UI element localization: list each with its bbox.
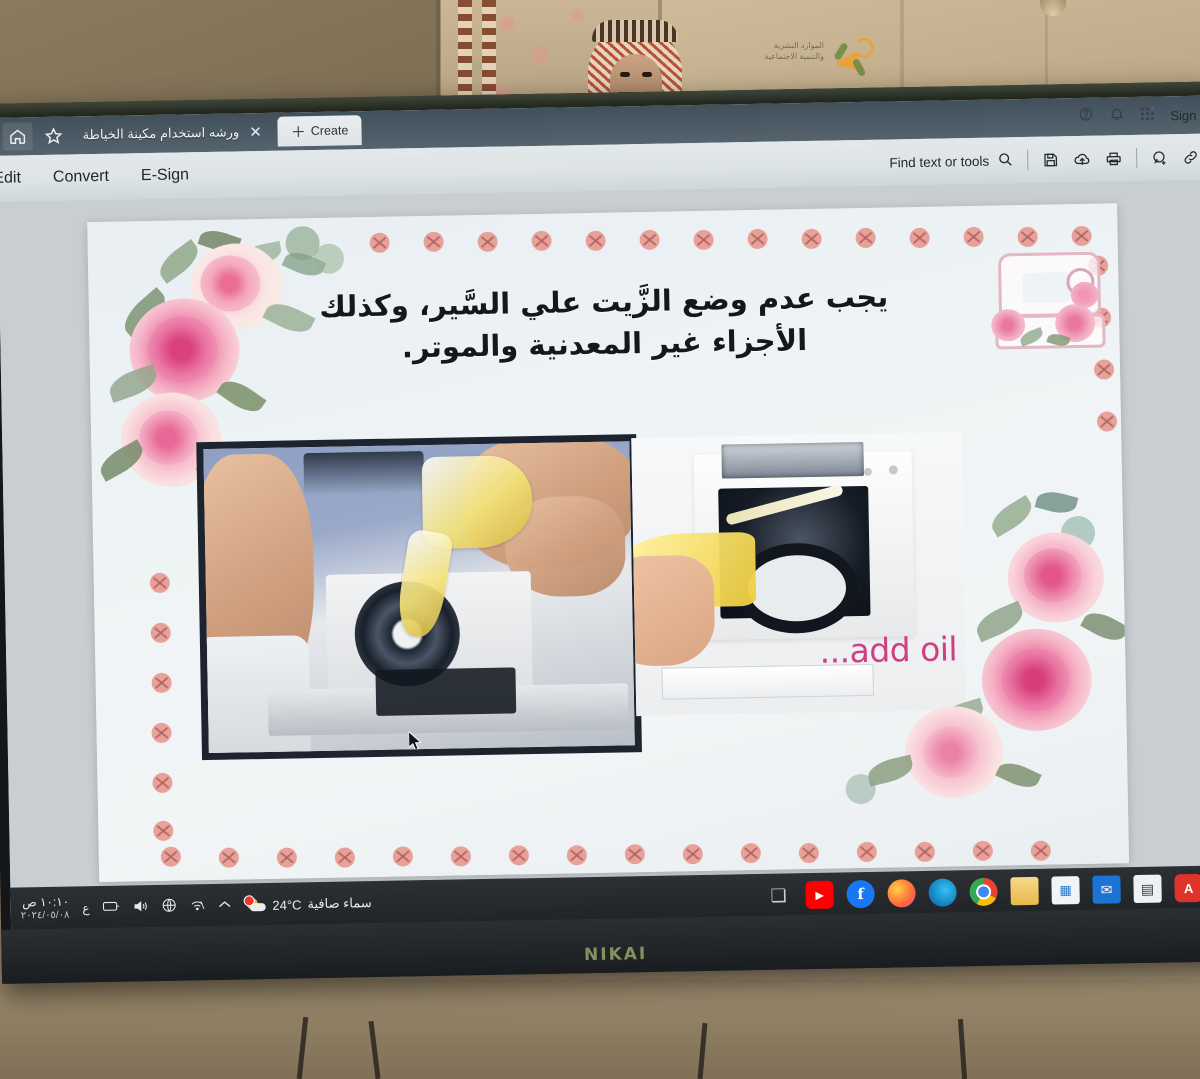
menu-item-convert[interactable]: Convert [53,168,109,187]
media-app-icon[interactable]: ❏ [764,881,793,910]
app-grid-icon[interactable] [1140,106,1154,125]
sign-in-link[interactable]: Sign [1170,107,1196,122]
firefox-icon[interactable] [887,879,916,908]
search-input[interactable]: Find text or tools [889,151,1013,172]
bell-icon[interactable] [1109,106,1124,126]
print-icon[interactable] [1105,150,1122,167]
folder-icon[interactable] [1010,877,1039,906]
clock-date: ٢٠٢٤/٠٥/٠٨ [21,909,70,923]
adobe-acrobat-icon[interactable]: A [1174,874,1200,903]
microsoft-store-icon[interactable]: ▦ [1051,876,1080,905]
floral-decoration-bottom-right [87,203,1117,222]
decorative-sewing-machine-icon [992,246,1106,352]
slide-border-right [87,203,1117,222]
youtube-icon[interactable]: ▶ [805,881,834,910]
add-oil-photo[interactable]: ...add oil [631,432,966,716]
file-explorer-icon[interactable]: ▤ [1133,875,1162,904]
slide-border-bottom [87,203,1117,222]
battery-icon[interactable] [102,900,119,916]
mail-icon[interactable]: ✉ [1092,875,1121,904]
help-icon[interactable] [1078,107,1093,127]
presentation-slide: يجب عدم وضع الزَّيت علي السَّير، وكذلك ا… [87,203,1129,882]
create-button-label: Create [311,123,349,138]
weather-widget[interactable]: سماء صافية 24°C [244,895,372,913]
google-chrome-icon[interactable] [969,878,998,907]
floral-decoration-top-left [87,203,1117,222]
link-icon[interactable] [1182,148,1199,165]
pdf-page-area[interactable]: يجب عدم وضع الزَّيت علي السَّير، وكذلك ا… [0,180,1200,932]
clock[interactable]: ١٠:١٠ ص ٢٠٢٤/٠٥/٠٨ [21,896,70,923]
menu-item-esign[interactable]: E-Sign [141,166,189,185]
slide-title: يجب عدم وضع الزَّيت علي السَّير، وكذلك ا… [278,275,929,371]
weather-temperature: 24°C [272,897,301,913]
create-button[interactable]: ＋ Create [278,115,362,147]
sun-cloud-icon [244,897,266,913]
weather-text: سماء صافية [307,895,371,912]
menu-item-edit[interactable]: Edit [0,169,21,188]
add-oil-caption: ...add oil [819,629,957,671]
monitor-brand-label: NIKAI [584,944,648,965]
oiling-sewing-machine-photo[interactable] [196,434,642,760]
facebook-icon[interactable]: f [846,880,875,909]
network-icon[interactable] [189,898,204,915]
show-hidden-icons[interactable] [217,899,231,913]
plus-icon: ＋ [291,121,306,142]
logo-line-1: الموارد البشرية [764,40,824,51]
computer-monitor: ورشه استخدام مكينة الخياطة ✕ ＋ Create [0,81,1200,983]
home-icon[interactable] [2,122,33,151]
taskbar-pinned-apps: ❏ ▶ f ▦ ✉ ▤ A [764,874,1200,910]
search-icon[interactable] [997,151,1013,170]
cloud-upload-icon[interactable] [1073,150,1091,168]
document-tab[interactable]: ورشه استخدام مكينة الخياطة ✕ [74,117,270,151]
add-comment-icon[interactable] [1151,149,1168,166]
slide-border-left [87,203,1117,222]
globe-icon[interactable] [161,898,176,916]
star-icon[interactable] [38,121,69,150]
volume-icon[interactable] [132,899,148,916]
screen: ورشه استخدام مكينة الخياطة ✕ ＋ Create [0,96,1200,932]
system-tray: ١٠:١٠ ص ٢٠٢٤/٠٥/٠٨ ع [11,890,372,923]
slide-border-top [87,203,1117,222]
ministry-logo: الموارد البشرية والتنمية الاجتماعية [716,34,876,86]
document-tab-title: ورشه استخدام مكينة الخياطة [82,124,239,143]
logo-mark-icon [830,34,876,80]
clock-time: ١٠:١٠ ص [21,896,70,910]
close-icon[interactable]: ✕ [249,123,262,141]
logo-line-2: والتنمية الاجتماعية [764,51,824,62]
desk-surface [0,979,1200,1079]
search-placeholder: Find text or tools [889,153,989,170]
language-indicator[interactable]: ع [82,901,89,915]
save-icon[interactable] [1042,151,1059,168]
microsoft-edge-icon[interactable] [928,878,957,907]
